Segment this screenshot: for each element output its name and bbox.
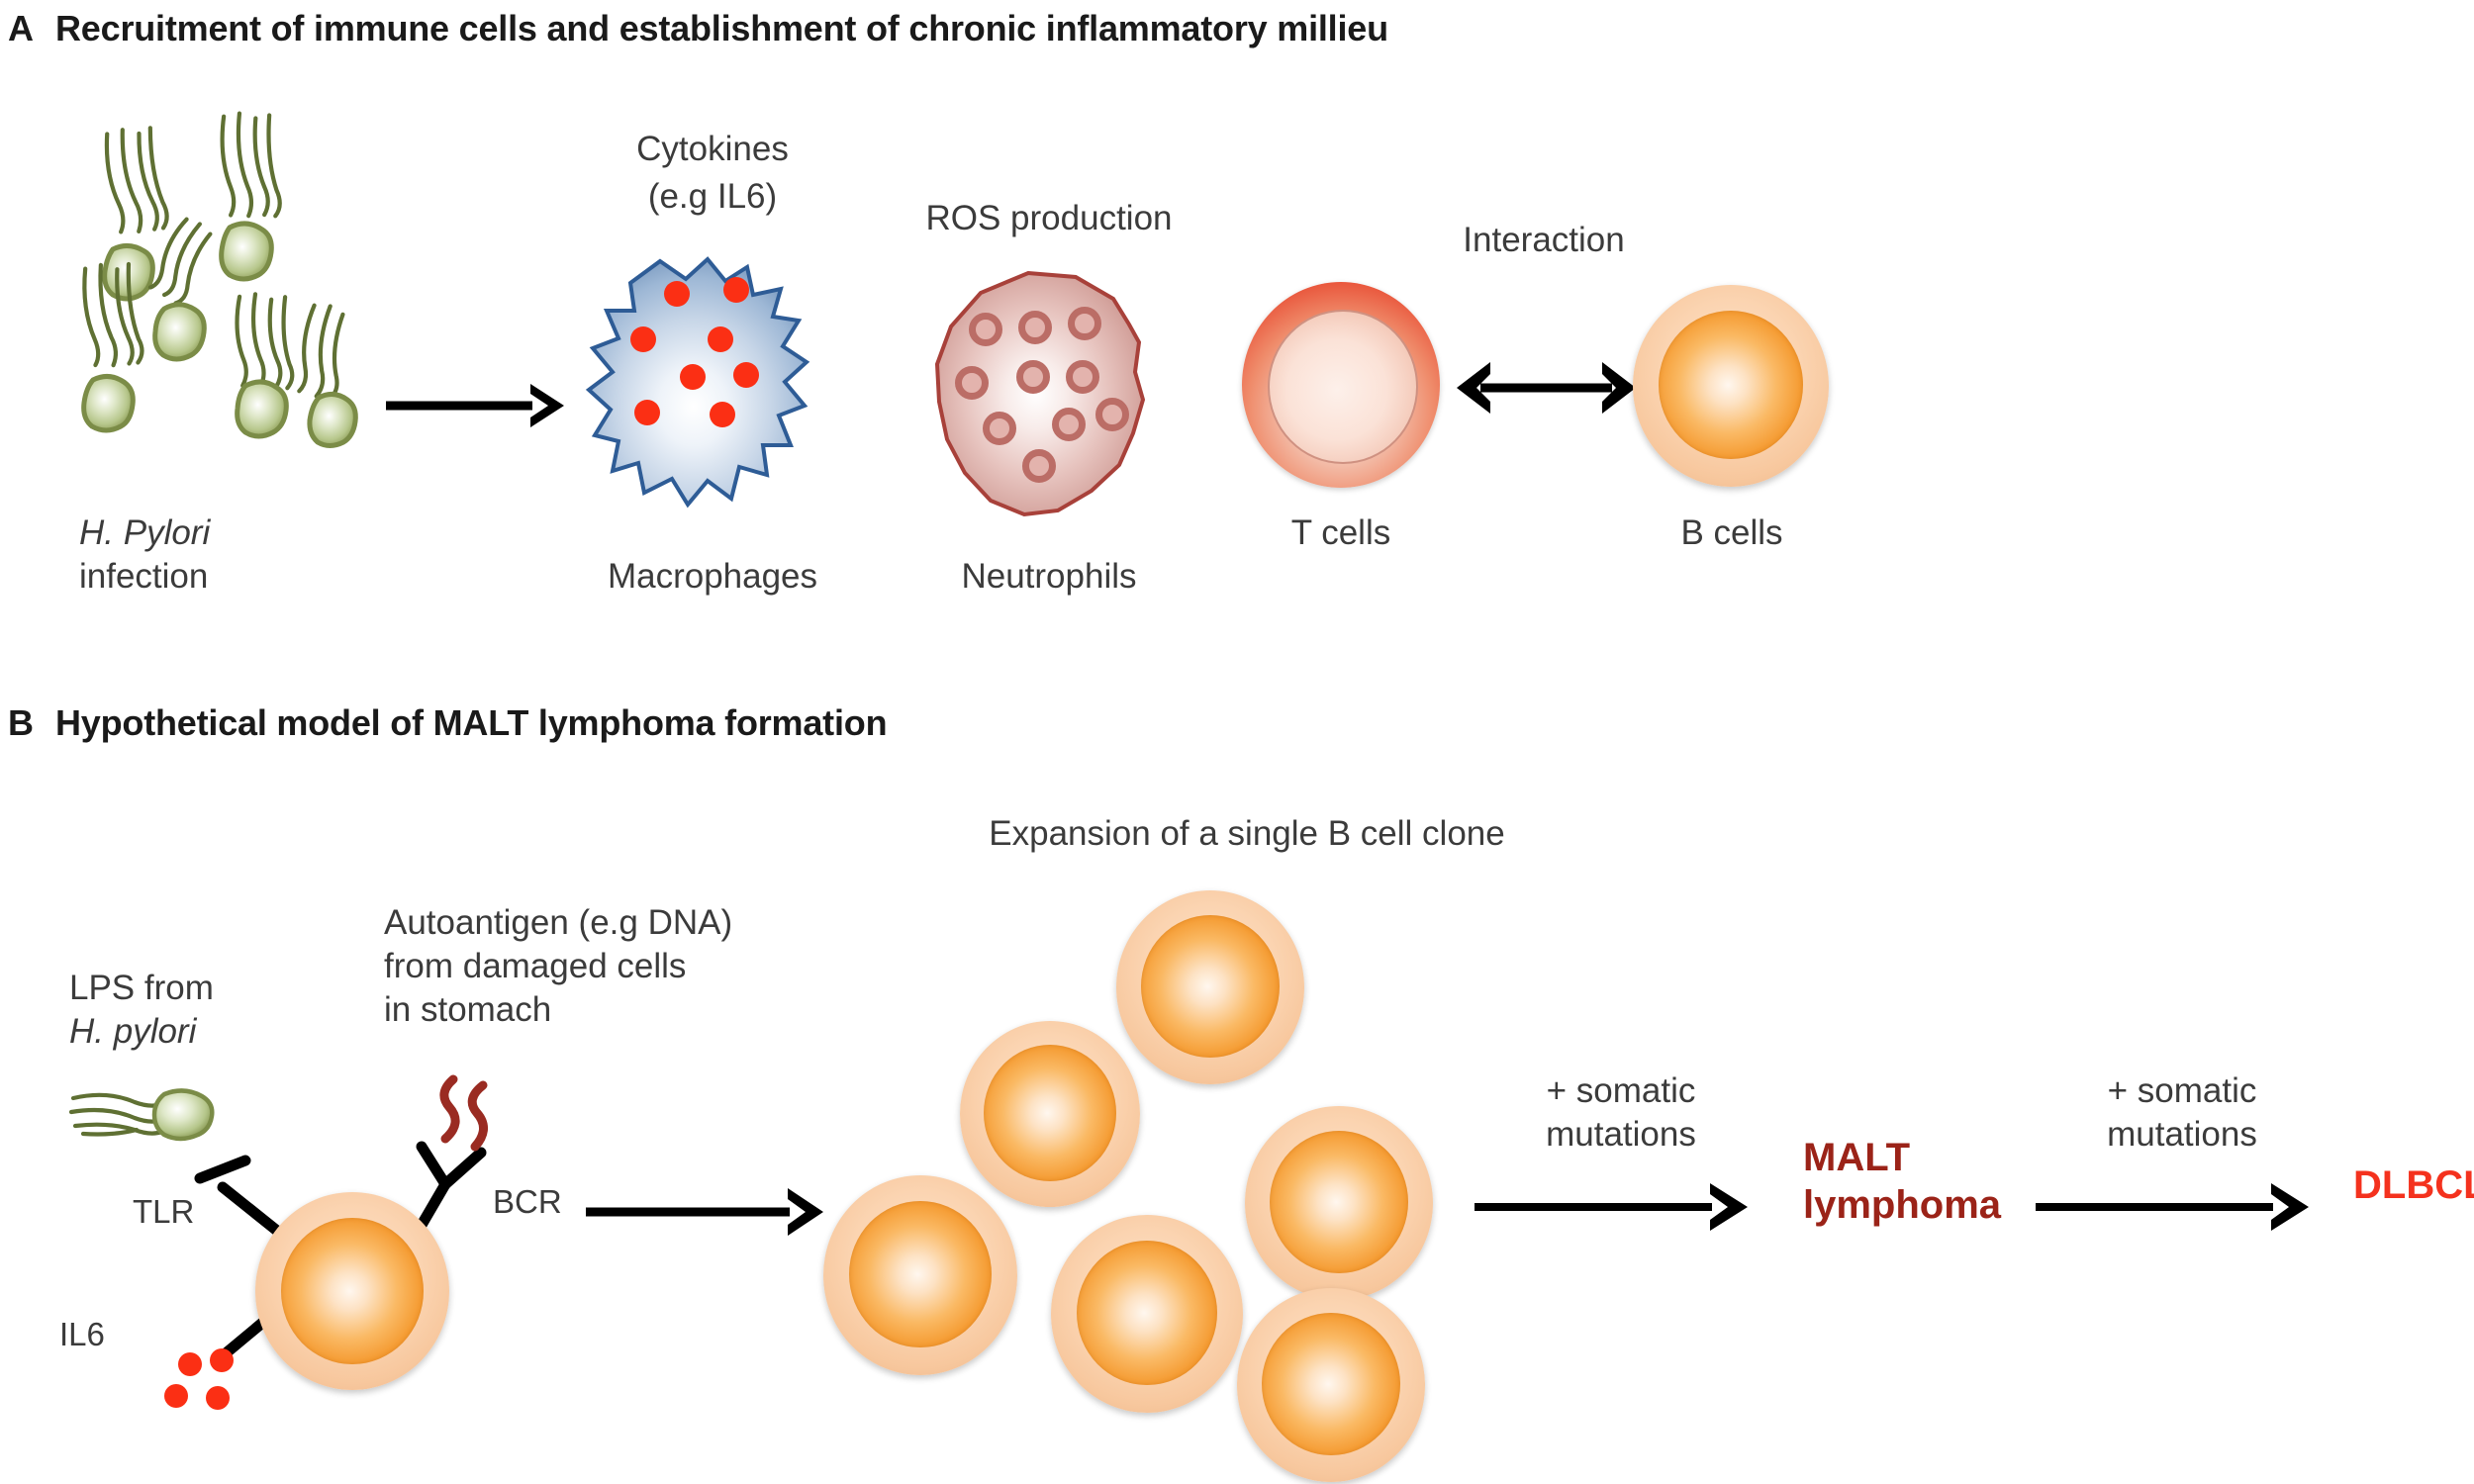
b-cell-receptor-complex bbox=[148, 1073, 564, 1410]
somatic-mutations-2-line2: mutations bbox=[2034, 1114, 2331, 1155]
cytokine-dot bbox=[733, 362, 759, 388]
granule bbox=[1052, 408, 1086, 441]
clone-cell-nucleus bbox=[1270, 1131, 1408, 1273]
bcr-label: BCR bbox=[493, 1183, 562, 1221]
cytokine-dot bbox=[710, 402, 735, 427]
clone-cell bbox=[1051, 1215, 1243, 1413]
figure-canvas: A Recruitment of immune cells and establ… bbox=[0, 0, 2474, 1484]
panel-b-letter: B bbox=[8, 702, 34, 744]
cytokine-dot bbox=[634, 400, 660, 425]
malt-lymphoma-outcome-line2: lymphoma bbox=[1803, 1183, 2001, 1228]
granule bbox=[1068, 307, 1101, 340]
granule bbox=[1066, 360, 1099, 394]
t-cell bbox=[1242, 282, 1440, 488]
arrow-bcell-to-clone bbox=[584, 1177, 831, 1247]
cytokine-dot bbox=[664, 281, 690, 307]
ros-production-label: ROS production bbox=[891, 198, 1207, 238]
arrow-bacteria-to-macrophage bbox=[384, 376, 572, 435]
h-pylori-bacteria-icon bbox=[59, 119, 386, 465]
panel-a-heading: Recruitment of immune cells and establis… bbox=[55, 8, 1388, 49]
clone-cell-nucleus bbox=[1262, 1313, 1400, 1455]
clone-cell-nucleus bbox=[1077, 1241, 1217, 1385]
h-pylori-cluster bbox=[59, 119, 386, 465]
il6-dot bbox=[210, 1348, 234, 1372]
clone-cell-nucleus bbox=[1141, 915, 1280, 1058]
clone-cell-nucleus bbox=[984, 1045, 1116, 1181]
b-cell-receptor-nucleus bbox=[281, 1218, 424, 1364]
granule bbox=[1022, 449, 1056, 483]
granule bbox=[1016, 360, 1050, 394]
granule bbox=[955, 366, 989, 400]
il6-dot bbox=[206, 1386, 230, 1410]
cytokines-label-line2: (e.g IL6) bbox=[574, 176, 851, 217]
panel-b-heading: Hypothetical model of MALT lymphoma form… bbox=[55, 702, 887, 744]
lps-label-line2: H. pylori bbox=[69, 1011, 346, 1052]
granule bbox=[1095, 398, 1129, 431]
b-cell-clone-cluster bbox=[802, 890, 1445, 1444]
il6-label: IL6 bbox=[59, 1316, 105, 1353]
panel-a-letter: A bbox=[8, 8, 34, 49]
cytokine-dot bbox=[680, 364, 706, 390]
il6-dot bbox=[164, 1384, 188, 1408]
somatic-mutations-1-line1: + somatic bbox=[1473, 1070, 1769, 1111]
arrow-to-malt-lymphoma bbox=[1473, 1172, 1755, 1242]
b-cell-nucleus bbox=[1659, 311, 1803, 459]
somatic-mutations-1-line2: mutations bbox=[1473, 1114, 1769, 1155]
t-cell-nucleus bbox=[1268, 310, 1418, 464]
granule bbox=[1018, 311, 1052, 344]
somatic-mutations-2-line1: + somatic bbox=[2034, 1070, 2331, 1111]
b-cell-receptor bbox=[255, 1192, 449, 1390]
tlr-label: TLR bbox=[133, 1193, 194, 1231]
expansion-label: Expansion of a single B cell clone bbox=[891, 813, 1603, 854]
neutrophil-cell bbox=[925, 269, 1173, 522]
t-cells-label: T cells bbox=[1237, 512, 1445, 553]
macrophage-icon bbox=[569, 255, 856, 537]
clone-cell bbox=[1116, 890, 1304, 1084]
arrow-to-dlbcl bbox=[2034, 1172, 2316, 1242]
neutrophil-label: Neutrophils bbox=[901, 556, 1197, 597]
clone-cell-nucleus bbox=[849, 1201, 992, 1347]
h-pylori-label-line1: H. Pylori bbox=[79, 512, 336, 553]
malt-lymphoma-outcome-line1: MALT bbox=[1803, 1136, 1910, 1180]
dlbcl-outcome: DLBCL bbox=[2353, 1163, 2474, 1208]
b-cell bbox=[1633, 285, 1829, 487]
clone-cell bbox=[1245, 1106, 1433, 1300]
cytokine-dot bbox=[708, 326, 733, 352]
lps-label-line1: LPS from bbox=[69, 968, 346, 1008]
cytokine-dot bbox=[630, 326, 656, 352]
b-cells-label: B cells bbox=[1628, 512, 1836, 553]
macrophage-cell bbox=[569, 255, 856, 537]
granule bbox=[983, 412, 1016, 445]
interaction-label: Interaction bbox=[1405, 220, 1682, 260]
granule bbox=[969, 313, 1002, 346]
macrophage-label: Macrophages bbox=[564, 556, 861, 597]
h-pylori-label-line2: infection bbox=[79, 556, 336, 597]
cytokines-label-line1: Cytokines bbox=[574, 129, 851, 169]
cytokine-dot bbox=[723, 277, 749, 303]
clone-cell bbox=[960, 1021, 1140, 1207]
clone-cell bbox=[823, 1175, 1017, 1375]
il6-dot bbox=[178, 1352, 202, 1376]
clone-cell bbox=[1237, 1288, 1425, 1482]
arrow-t-cell-b-cell-interaction bbox=[1455, 348, 1638, 427]
